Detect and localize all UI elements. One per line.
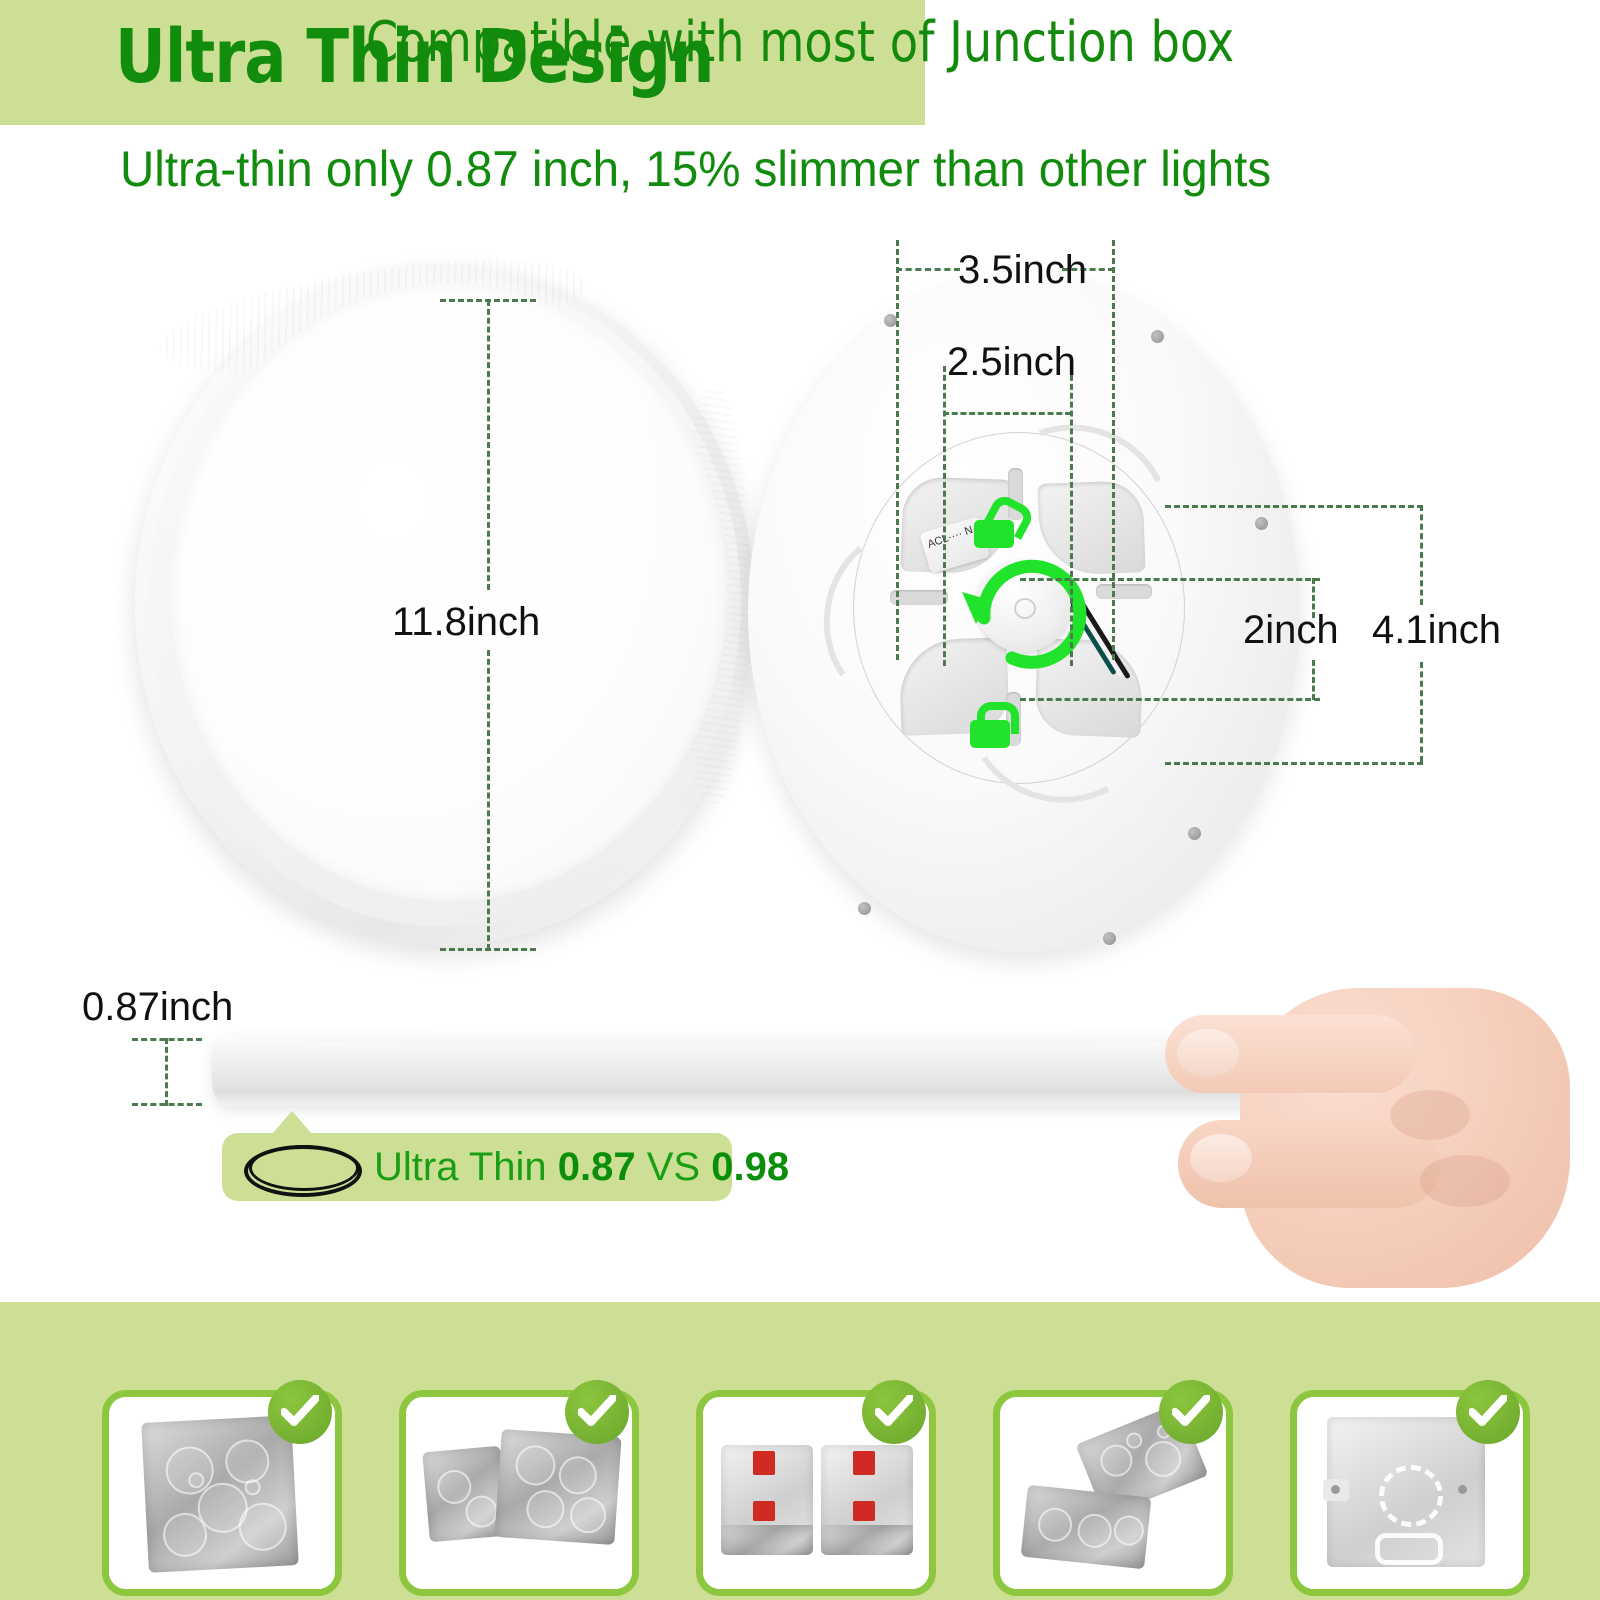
check-circle-icon-2 <box>565 1380 629 1444</box>
dimline-front-diameter-bottom <box>487 650 490 950</box>
dimline-thickness <box>132 1038 202 1106</box>
thumbnail <box>1190 1134 1252 1182</box>
dimtick-25 <box>943 412 1071 415</box>
ultra-thin-badge: Ultra Thin 0.87 VS 0.98 <box>222 1133 732 1201</box>
dimline-41-tick-bottom <box>1420 662 1423 762</box>
screw-bottom-right <box>1188 827 1201 840</box>
unlock-icon <box>970 502 1018 548</box>
index-fingernail <box>1177 1029 1239 1077</box>
screw-top-right <box>1151 330 1164 343</box>
check-circle-icon-1 <box>268 1380 332 1444</box>
lamp-front-diffuser <box>171 283 727 901</box>
screw-bottom <box>1103 932 1116 945</box>
compatible-title: Compatible with most of Junction box <box>64 10 1536 75</box>
badge-text: Ultra Thin 0.87 VS 0.98 <box>374 1145 789 1190</box>
knuckle-2 <box>1420 1155 1510 1207</box>
hand-holding-lamp <box>1120 970 1590 1300</box>
dimension-thickness: 0.87inch <box>82 985 233 1030</box>
check-circle-icon-5 <box>1456 1380 1520 1444</box>
check-circle-icon-4 <box>1159 1380 1223 1444</box>
dimension-front-diameter: 11.8inch <box>392 600 540 645</box>
infographic-canvas: Ultra Thin Design Ultra-thin only 0.87 i… <box>0 0 1600 1600</box>
junction-box-card-3[interactable] <box>682 1380 934 1584</box>
dimtick-35-left <box>896 268 960 271</box>
junction-box-card-2[interactable] <box>385 1380 637 1584</box>
junction-box-card-list <box>88 1380 1528 1590</box>
dimline-41-tick-top <box>1420 505 1423 605</box>
thin-profile-icon <box>244 1145 362 1197</box>
dimline-2inch-tick-bottom <box>1312 660 1315 700</box>
dimline-2inch-bottom <box>1020 698 1320 701</box>
badge-prefix: Ultra Thin <box>374 1145 558 1189</box>
dimension-mount-outer: 3.5inch <box>958 248 1087 293</box>
badge-compare: 0.98 <box>711 1145 789 1189</box>
screw-right <box>1255 517 1268 530</box>
dimline-35-right <box>1112 240 1115 660</box>
badge-vs: VS <box>636 1145 712 1189</box>
dimension-bracket-height: 2inch <box>1243 608 1339 653</box>
badge-pointer <box>272 1111 312 1134</box>
index-finger <box>1165 1015 1415 1093</box>
dimension-mount-inner: 2.5inch <box>947 340 1076 385</box>
badge-value: 0.87 <box>558 1145 636 1189</box>
screw-bottom-left <box>858 902 871 915</box>
dimline-25-left <box>943 366 946 666</box>
dimtick-front-top <box>440 299 536 302</box>
junction-box-card-1[interactable] <box>88 1380 340 1584</box>
dimtick-front-bottom <box>440 948 536 951</box>
knuckle-1 <box>1390 1090 1470 1140</box>
dimension-back-plate: 4.1inch <box>1372 608 1501 653</box>
dimline-35-left <box>896 240 899 660</box>
dimline-2inch-top <box>1020 578 1320 581</box>
thumb <box>1178 1120 1440 1208</box>
check-circle-icon-3 <box>862 1380 926 1444</box>
page-subtitle: Ultra-thin only 0.87 inch, 15% slimmer t… <box>120 140 1271 198</box>
lock-icon <box>966 702 1014 748</box>
dimline-25-right <box>1070 366 1073 666</box>
junction-box-card-4[interactable] <box>979 1380 1231 1584</box>
dimline-41-top <box>1165 505 1423 508</box>
rotate-arrow-icon <box>946 526 1116 696</box>
junction-box-card-5[interactable] <box>1276 1380 1528 1584</box>
dimline-front-diameter-top <box>487 300 490 590</box>
dimline-41-bottom <box>1165 762 1423 765</box>
